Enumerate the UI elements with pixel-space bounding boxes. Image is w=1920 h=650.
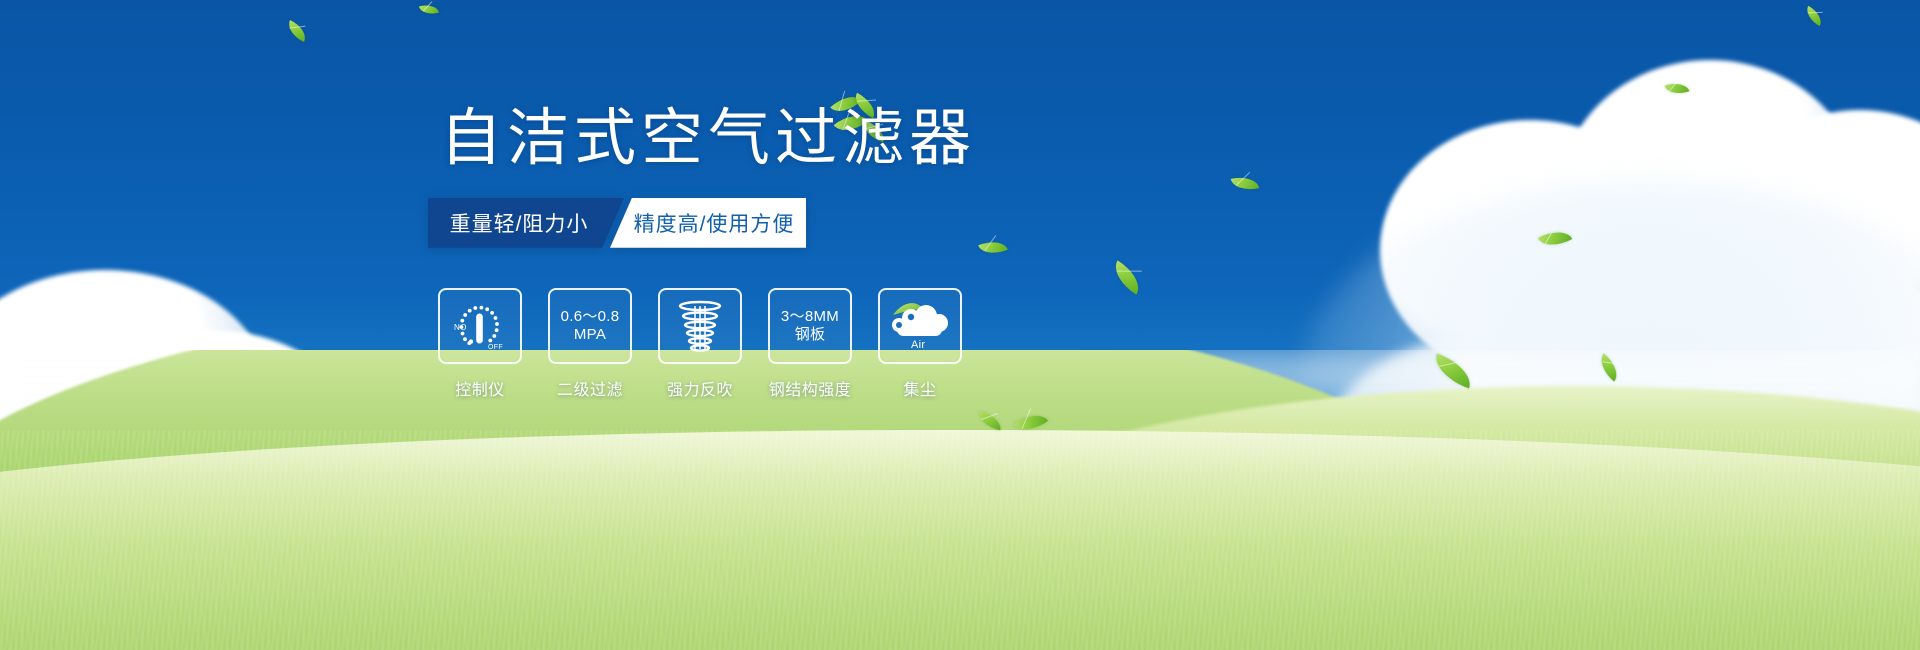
feature-item-dust-collection[interactable]: Air 集尘 <box>878 288 962 400</box>
svg-text:OFF: OFF <box>488 344 503 351</box>
gauge-dial-icon: NO OFF <box>450 299 510 353</box>
badge-lightweight-low-resistance[interactable]: 重量轻/阻力小 <box>428 198 624 248</box>
feature-item-steel-strength[interactable]: 3～8MM 钢板 钢结构强度 <box>768 288 852 400</box>
feature-caption: 控制仪 <box>455 376 505 400</box>
air-cloud-icon: Air <box>887 299 953 353</box>
steel-plate-text: 钢板 <box>795 326 826 344</box>
feature-caption: 钢结构强度 <box>769 376 852 400</box>
feature-icon-row: NO OFF 控制仪 0.6～0.8 MPA 二级过滤 <box>438 288 1128 400</box>
hill-near <box>0 430 1920 650</box>
feature-box: Air <box>878 288 962 364</box>
svg-text:NO: NO <box>454 323 467 332</box>
tagline-badges: 重量轻/阻力小 精度高/使用方便 <box>428 198 820 248</box>
steel-thickness-text: 3～8MM <box>781 308 839 326</box>
grass-texture <box>0 430 1920 650</box>
feature-box: 0.6～0.8 MPA <box>548 288 632 364</box>
feature-box: NO OFF <box>438 288 522 364</box>
svg-text:Air: Air <box>911 339 925 351</box>
badge-high-precision-easy-use[interactable]: 精度高/使用方便 <box>610 198 806 248</box>
feature-box: 3～8MM 钢板 <box>768 288 852 364</box>
banner-content: 自洁式空气过滤器 重量轻/阻力小 精度高/使用方便 <box>428 106 1128 400</box>
blowback-coil-icon <box>673 298 727 354</box>
feature-item-strong-blowback[interactable]: 强力反吹 <box>658 288 742 400</box>
feature-item-controller[interactable]: NO OFF 控制仪 <box>438 288 522 400</box>
feature-box <box>658 288 742 364</box>
pressure-range-text: 0.6～0.8 <box>561 308 620 326</box>
feature-caption: 强力反吹 <box>667 376 733 400</box>
feature-item-two-stage-filter[interactable]: 0.6～0.8 MPA 二级过滤 <box>548 288 632 400</box>
pressure-unit-text: MPA <box>574 326 606 344</box>
feature-caption: 二级过滤 <box>557 376 623 400</box>
feature-caption: 集尘 <box>903 376 936 400</box>
page-title: 自洁式空气过滤器 <box>440 106 1128 172</box>
product-hero-banner: 自洁式空气过滤器 重量轻/阻力小 精度高/使用方便 <box>0 0 1920 650</box>
